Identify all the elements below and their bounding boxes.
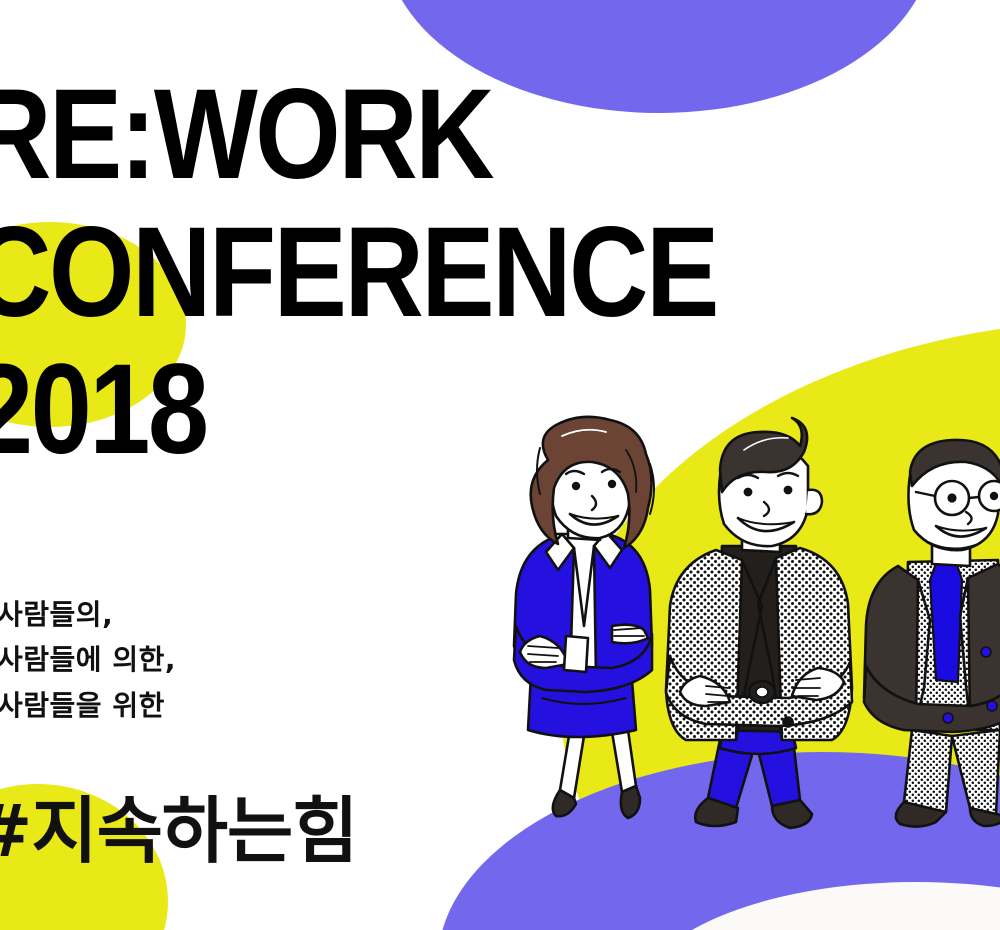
headline-block: RE:WORK CONFERENCE 2018	[0, 74, 732, 471]
figure-man-dotted-blazer	[666, 418, 852, 828]
headline-line-conference: CONFERENCE	[0, 212, 626, 334]
people-illustration	[500, 430, 1000, 850]
figure-woman-blue-suit	[514, 417, 654, 818]
headline-line-year: 2018	[0, 349, 626, 471]
body-copy-line-2: 일하는 사람들에 의한,	[0, 637, 468, 682]
body-copy-block: 일하는 사람들의, 일하는 사람들에 의한, 일하는 사람들을 위한	[0, 592, 468, 728]
poster-canvas: RE:WORK CONFERENCE 2018 일하는 사람들의, 일하는 사람…	[0, 0, 1000, 930]
body-copy-line-3: 일하는 사람들을 위한	[0, 683, 468, 728]
body-copy-line-1: 일하는 사람들의,	[0, 592, 468, 637]
headline-line-rework: RE:WORK	[0, 74, 626, 196]
figure-man-glasses	[864, 440, 1000, 827]
hashtag-text: #지속하는힘	[0, 772, 358, 877]
